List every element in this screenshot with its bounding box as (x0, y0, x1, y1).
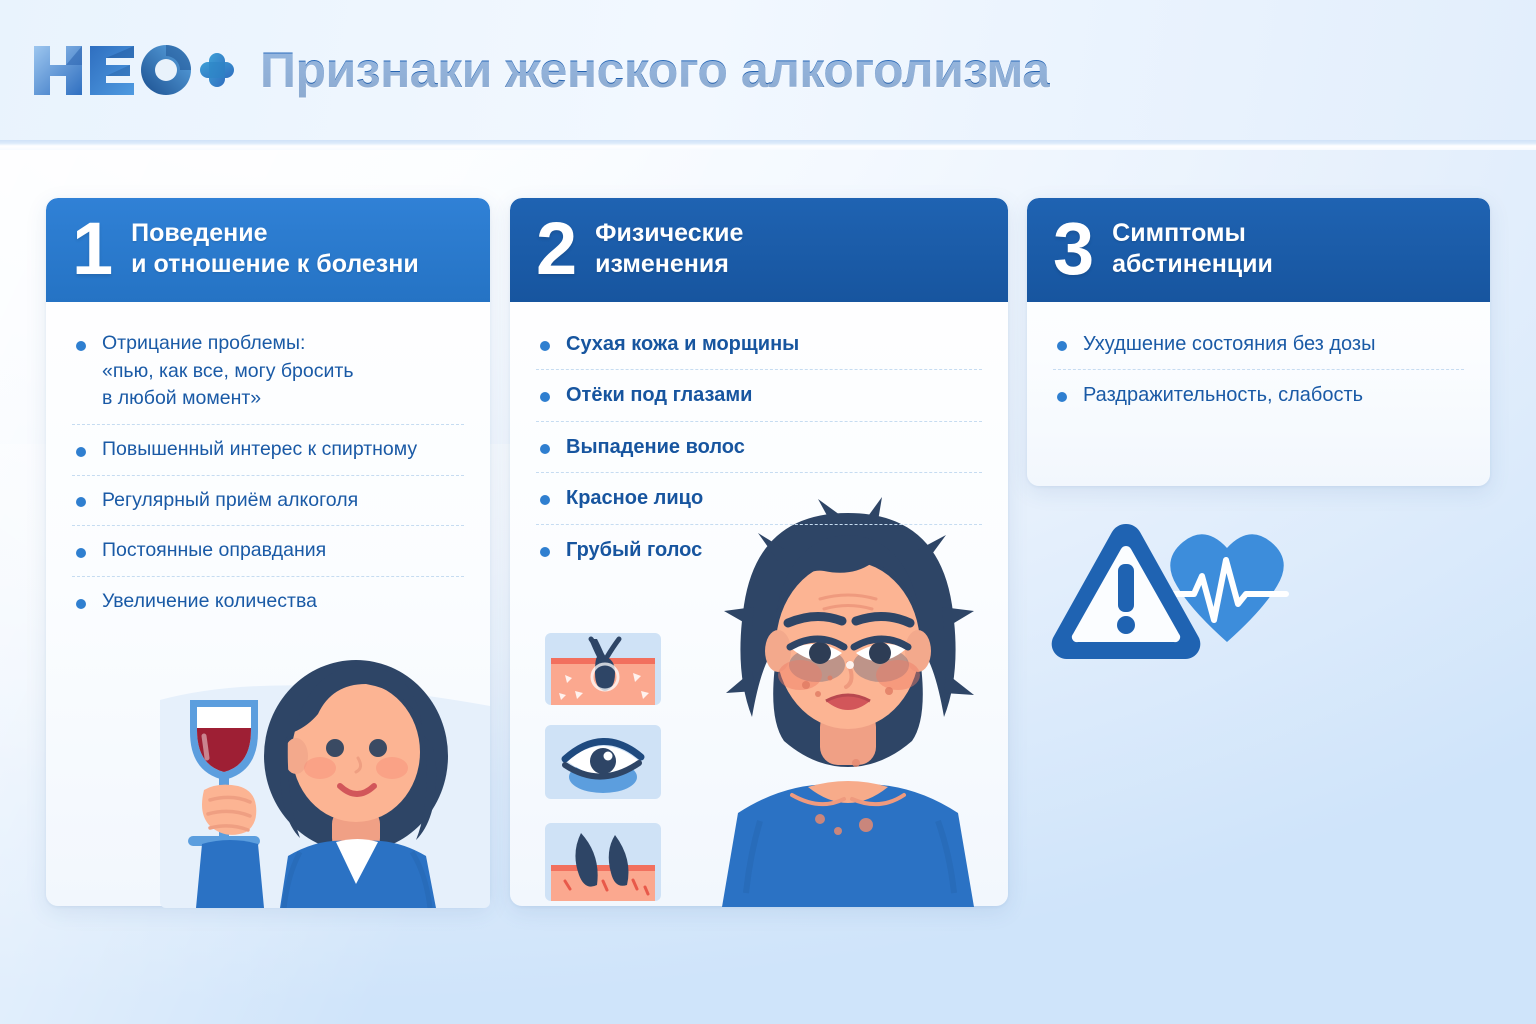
bullet-dot (540, 444, 550, 454)
list-item-text: Грубый голос (566, 536, 982, 564)
list-item: Выпадение волос (536, 433, 982, 473)
list-line: Отрицание проблемы: (102, 330, 464, 358)
neo-plus-logo-icon (30, 40, 236, 100)
list-separator (536, 472, 982, 473)
list-item: Регулярный приём алкоголя (72, 487, 464, 527)
list-separator (536, 524, 982, 525)
card-physical-changes: 2 Физические изменения Сухая кожа и морщ… (510, 198, 1008, 906)
list-item-text: Красное лицо (566, 484, 982, 512)
list-separator (536, 369, 982, 370)
card-title-line1: Физические (595, 219, 743, 247)
bullet-dot (76, 447, 86, 457)
symptom-list: Отрицание проблемы: «пью, как все, могу … (72, 330, 464, 616)
card-withdrawal-symptoms: 3 Симптомы абстиненции Ухудшение состоян… (1027, 198, 1490, 486)
list-item-text: Увеличение количества (102, 588, 464, 616)
list-item: Раздражительность, слабость (1053, 381, 1464, 409)
bullet-dot (76, 548, 86, 558)
bullet-dot (540, 495, 550, 505)
list-item: Отёки под глазами (536, 381, 982, 421)
card-body: Ухудшение состояния без дозы Раздражител… (1027, 302, 1490, 410)
list-item: Постоянные оправдания (72, 537, 464, 577)
list-line: Красное лицо (566, 484, 982, 512)
header-divider (0, 140, 1536, 150)
list-line: Постоянные оправдания (102, 537, 464, 565)
list-item: Сухая кожа и морщины (536, 330, 982, 370)
list-item: Увеличение количества (72, 588, 464, 616)
list-item: Повышенный интерес к спиртному (72, 436, 464, 476)
list-line: Повышенный интерес к спиртному (102, 436, 464, 464)
bullet-dot (76, 497, 86, 507)
bullet-dot (540, 341, 550, 351)
list-item-text: Ухудшение состояния без дозы (1083, 330, 1464, 358)
card-title-line2: изменения (595, 249, 743, 281)
card-header: 3 Симптомы абстиненции (1027, 198, 1490, 302)
card-title-line2: и отношение к болезни (131, 249, 419, 281)
card-header: 2 Физические изменения (510, 198, 1008, 302)
list-separator (72, 525, 464, 526)
list-item-text: Отрицание проблемы: «пью, как все, могу … (102, 330, 464, 413)
page-title: Признаки женского алкоголизма (260, 41, 1050, 99)
card-title: Симптомы абстиненции (1112, 218, 1273, 281)
infographic-canvas: Признаки женского алкоголизма 1 Поведени… (0, 0, 1536, 1024)
list-line: Увеличение количества (102, 588, 464, 616)
bullet-dot (1057, 341, 1067, 351)
card-number: 3 (1053, 219, 1094, 280)
card-title: Поведение и отношение к болезни (131, 218, 419, 281)
card-body: Отрицание проблемы: «пью, как все, могу … (46, 302, 490, 616)
card-body: Сухая кожа и морщины Отёки под глазами В… (510, 302, 1008, 564)
list-item: Грубый голос (536, 536, 982, 564)
symptom-list: Сухая кожа и морщины Отёки под глазами В… (536, 330, 982, 564)
bullet-dot (540, 547, 550, 557)
list-line: Выпадение волос (566, 433, 982, 461)
card-number: 2 (536, 219, 577, 280)
bullet-dot (76, 599, 86, 609)
list-separator (536, 421, 982, 422)
list-item-text: Отёки под глазами (566, 381, 982, 409)
list-separator (72, 576, 464, 577)
list-line: Сухая кожа и морщины (566, 330, 982, 358)
list-item-text: Раздражительность, слабость (1083, 381, 1464, 409)
list-separator (72, 424, 464, 425)
bullet-dot (1057, 392, 1067, 402)
list-item: Красное лицо (536, 484, 982, 524)
card-title: Физические изменения (595, 218, 743, 281)
list-line: Грубый голос (566, 536, 982, 564)
list-item-text: Повышенный интерес к спиртному (102, 436, 464, 464)
bullet-dot (76, 341, 86, 351)
list-line: Раздражительность, слабость (1083, 381, 1464, 409)
symptom-list: Ухудшение состояния без дозы Раздражител… (1053, 330, 1464, 410)
list-item-text: Регулярный приём алкоголя (102, 487, 464, 515)
list-separator (72, 475, 464, 476)
card-title-line2: абстиненции (1112, 249, 1273, 281)
card-behavior: 1 Поведение и отношение к болезни Отрица… (46, 198, 490, 906)
page-header: Признаки женского алкоголизма (0, 0, 1536, 140)
card-header: 1 Поведение и отношение к болезни (46, 198, 490, 302)
bullet-dot (540, 392, 550, 402)
card-number: 1 (72, 219, 113, 280)
list-item-text: Сухая кожа и морщины (566, 330, 982, 358)
list-item: Отрицание проблемы: «пью, как все, могу … (72, 330, 464, 425)
list-item-text: Выпадение волос (566, 433, 982, 461)
warning-and-heartbeat-illustration (1052, 512, 1322, 672)
heart-pulse-icon (1170, 534, 1286, 642)
list-line: Регулярный приём алкоголя (102, 487, 464, 515)
list-item: Ухудшение состояния без дозы (1053, 330, 1464, 370)
list-separator (1053, 369, 1464, 370)
list-line: «пью, как все, могу бросить (102, 358, 464, 386)
warning-triangle-icon (1052, 524, 1201, 659)
card-title-line1: Поведение (131, 219, 267, 247)
list-line: в любой момент» (102, 385, 464, 413)
list-line: Ухудшение состояния без дозы (1083, 330, 1464, 358)
list-line: Отёки под глазами (566, 381, 982, 409)
list-item-text: Постоянные оправдания (102, 537, 464, 565)
card-title-line1: Симптомы (1112, 219, 1246, 247)
